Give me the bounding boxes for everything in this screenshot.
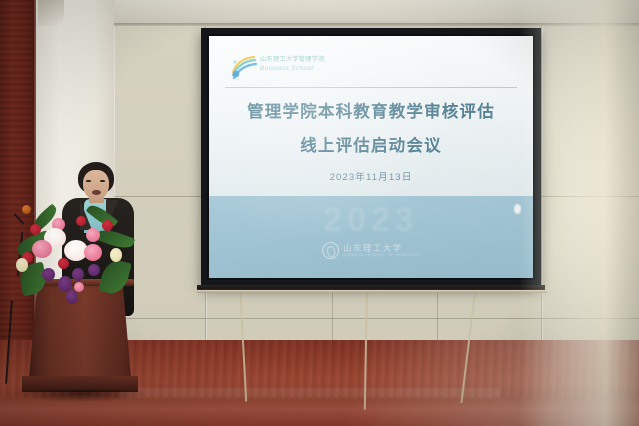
projected-slide: 山东理工大学管理学院 Business School 管理学院本科教育教学审核评…	[209, 36, 533, 278]
flower-bloom	[88, 264, 100, 276]
lectern-shadow	[12, 390, 150, 402]
wall-seam	[114, 318, 639, 319]
flower-bloom	[76, 216, 86, 226]
university-name-en: SHANDONG UNIVERSITY OF TECHNOLOGY	[343, 253, 420, 257]
speaker-eye-right	[100, 180, 105, 182]
flower-bloom	[30, 224, 41, 235]
flower-bloom	[72, 268, 84, 281]
wall-scuff	[38, 0, 64, 26]
slide-date: 2023年11月13日	[209, 169, 533, 183]
university-seal-icon	[322, 242, 339, 259]
flower-bloom	[84, 244, 102, 261]
flower-bloom	[16, 258, 28, 272]
slide-corner-marker	[514, 204, 521, 214]
flower-bloom	[102, 220, 113, 231]
speaker-eye-left	[86, 180, 91, 182]
flower-bloom	[86, 228, 100, 242]
brand-name-en: Business School	[260, 64, 340, 73]
wall-panel	[542, 26, 639, 392]
business-school-logo-icon	[231, 54, 257, 80]
university-name-cn: 山东理工大学	[343, 244, 420, 253]
speaker-face	[83, 170, 109, 200]
university-logo: 山东理工大学 SHANDONG UNIVERSITY OF TECHNOLOGY	[322, 242, 420, 259]
slide-year-watermark: 2023	[209, 201, 533, 240]
brand-text-block: 山东理工大学管理学院 Business School	[260, 55, 340, 73]
flower-bloom	[58, 258, 69, 269]
flower-bloom	[66, 290, 78, 304]
flower-bloom	[74, 282, 84, 292]
screen-bottom-lip	[197, 290, 547, 293]
flower-bloom	[42, 268, 55, 281]
slide-divider-line	[225, 87, 517, 88]
speaker-mouth	[92, 190, 101, 195]
wall-seam	[541, 26, 542, 392]
slide-title-sub: 线上评估启动会议	[209, 132, 533, 156]
brand-name-cn: 山东理工大学管理学院	[260, 55, 340, 64]
slide-title-main: 管理学院本科教育教学审核评估	[209, 98, 533, 122]
foliage-leaf	[98, 257, 131, 296]
flower-bloom	[110, 248, 122, 262]
business-school-brand: 山东理工大学管理学院 Business School	[231, 52, 341, 82]
university-name-block: 山东理工大学 SHANDONG UNIVERSITY OF TECHNOLOGY	[343, 244, 420, 257]
floral-arrangement	[14, 206, 136, 314]
conference-photo: 山东理工大学管理学院 Business School 管理学院本科教育教学审核评…	[0, 0, 639, 426]
wood-wall-panel	[0, 0, 34, 380]
flower-bloom	[32, 240, 52, 258]
